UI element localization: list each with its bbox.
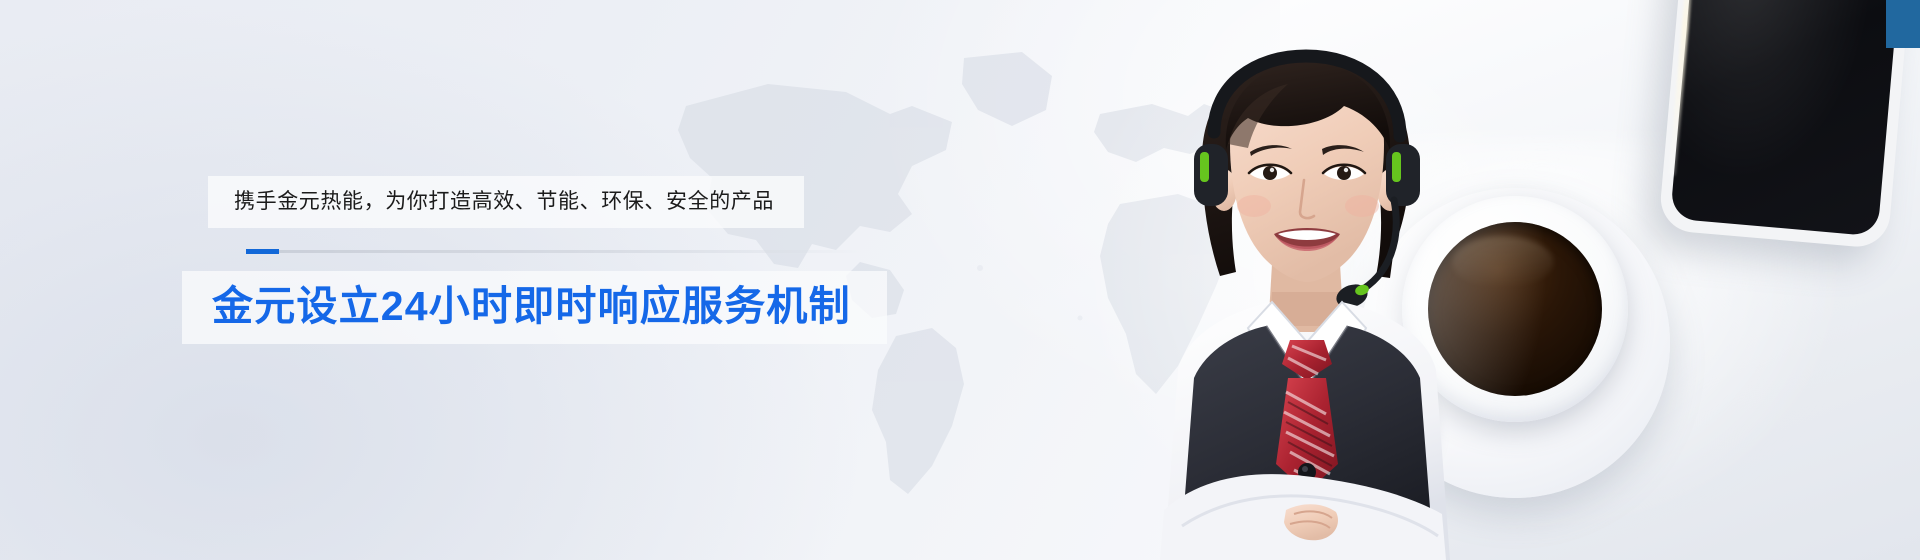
tagline-text: 携手金元热能，为你打造高效、节能、环保、安全的产品	[234, 189, 774, 214]
call-center-agent	[1090, 40, 1520, 560]
headline-text: 金元设立24小时即时响应服务机制	[212, 281, 851, 332]
phone-screen	[1670, 0, 1904, 236]
divider-accent	[246, 249, 279, 254]
corner-accent-block	[1886, 0, 1920, 48]
copy-block: 携手金元热能，为你打造高效、节能、环保、安全的产品 金元设立24小时即时响应服务…	[0, 176, 950, 344]
headline-panel: 金元设立24小时即时响应服务机制	[182, 271, 887, 344]
smartphone	[1658, 0, 1916, 249]
tagline-panel: 携手金元热能，为你打造高效、节能、环保、安全的产品	[208, 176, 804, 228]
divider	[246, 250, 866, 253]
photo-scene	[980, 0, 1920, 560]
hero-banner: 携手金元热能，为你打造高效、节能、环保、安全的产品 金元设立24小时即时响应服务…	[0, 0, 1920, 560]
